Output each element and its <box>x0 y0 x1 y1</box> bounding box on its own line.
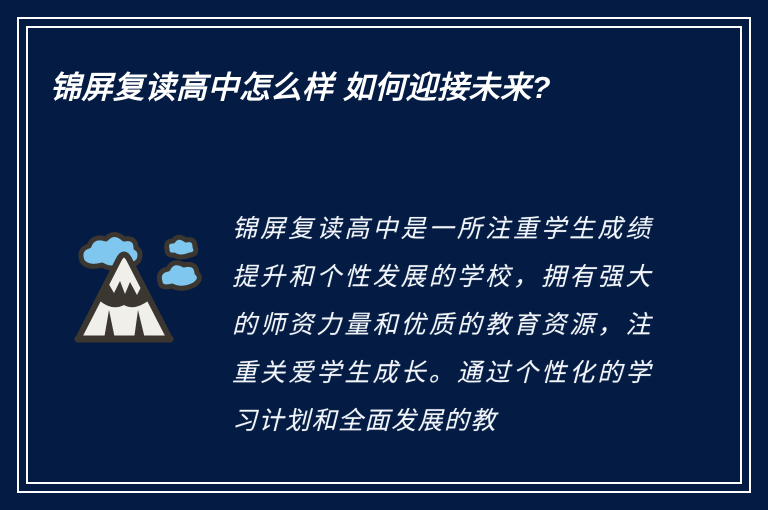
page-title: 锦屏复读高中怎么样 如何迎接未来? <box>50 62 690 114</box>
content-area: 锦屏复读高中是一所注重学生成绩提升和个性发展的学校，拥有强大的师资力量和优质的教… <box>50 205 718 470</box>
cloud-small-top-icon <box>167 237 196 257</box>
poster-canvas: 锦屏复读高中怎么样 如何迎接未来? <box>0 0 768 510</box>
mountain-icon <box>62 215 212 355</box>
cloud-small-mid-icon <box>159 263 199 289</box>
body-paragraph: 锦屏复读高中是一所注重学生成绩提升和个性发展的学校，拥有强大的师资力量和优质的教… <box>232 205 652 445</box>
